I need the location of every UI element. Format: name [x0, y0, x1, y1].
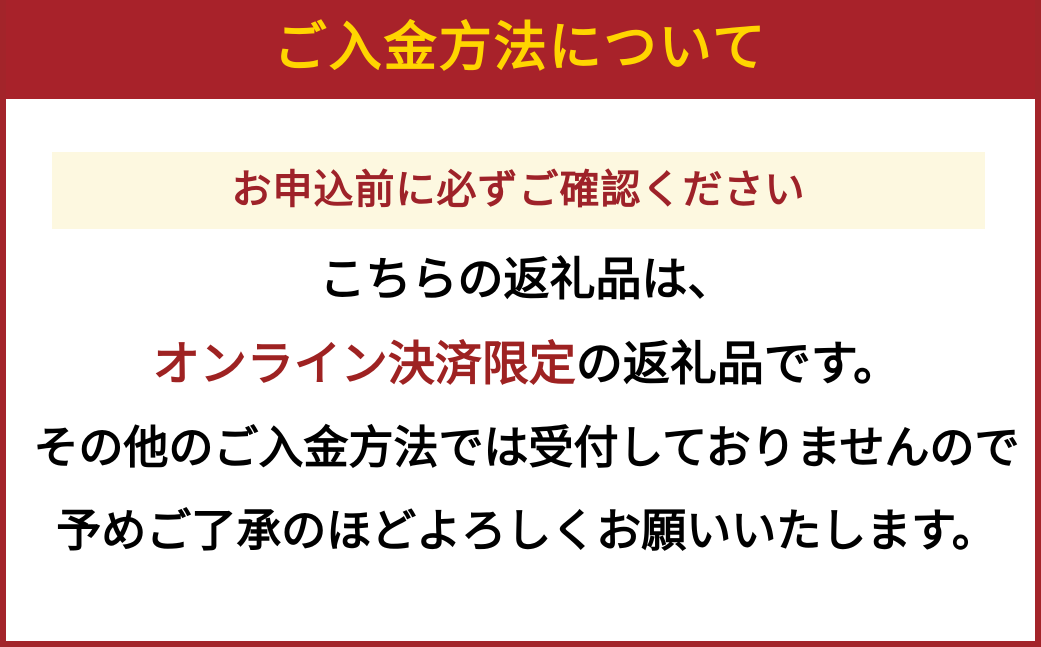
payment-method-notice-banner: ご入金方法について お申込前に必ずご確認ください こちらの返礼品は、 オンライン… — [0, 0, 1041, 647]
body-line-3: その他のご入金方法では受付しておりませんので — [6, 425, 1041, 470]
header-band: ご入金方法について — [0, 0, 1041, 99]
online-payment-emphasis: オンライン決済限定 — [153, 337, 576, 390]
body-line-4: 予めご了承のほどよろしくお願いいたします。 — [6, 508, 1041, 553]
page-title: ご入金方法について — [274, 21, 767, 74]
notice-heading: お申込前に必ずご確認ください — [232, 170, 806, 210]
body-line-2: オンライン決済限定の返礼品です。 — [6, 340, 1041, 387]
body-line-1: こちらの返礼品は、 — [6, 256, 1041, 302]
notice-highlight-band: お申込前に必ずご確認ください — [52, 152, 985, 229]
body-line-2-rest: の返礼品です。 — [576, 337, 900, 390]
